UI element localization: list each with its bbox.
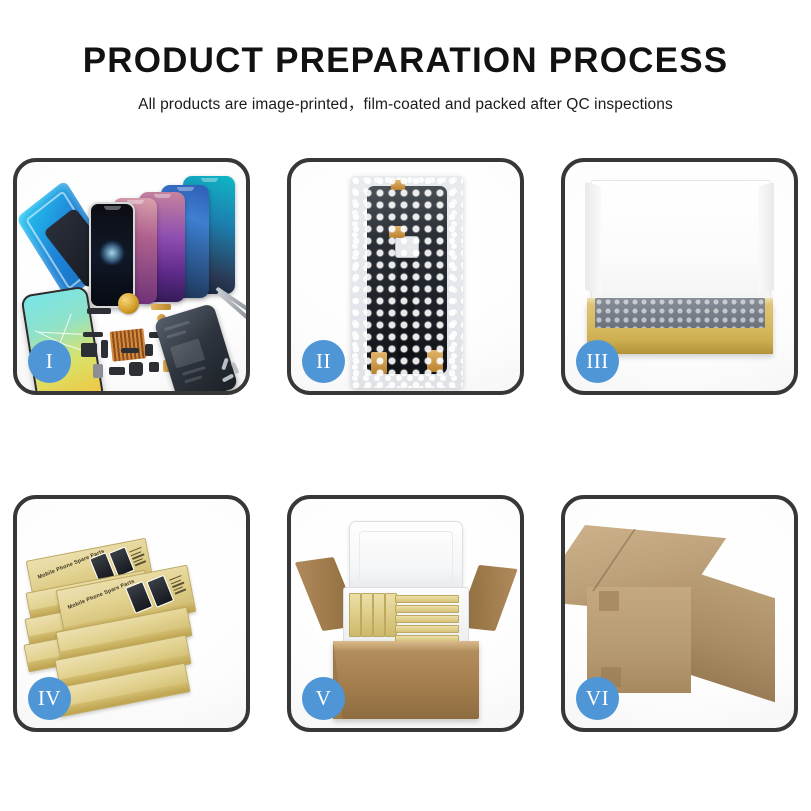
foam-lid-icon — [349, 521, 463, 593]
spare-part-icon — [129, 362, 143, 376]
process-step-5: V — [287, 495, 524, 732]
step-badge-4: IV — [28, 677, 71, 720]
camera-lens-icon — [118, 293, 139, 314]
connector-pad-icon — [395, 236, 419, 258]
tape-icon — [427, 350, 443, 372]
step-badge-2: II — [302, 340, 345, 383]
spare-part-icon — [87, 308, 111, 314]
process-step-2: II — [287, 158, 524, 395]
spare-part-icon — [109, 367, 125, 375]
header: PRODUCT PREPARATION PROCESS All products… — [0, 0, 811, 114]
kraft-box — [373, 593, 385, 637]
lid-flap-right-icon — [758, 182, 774, 294]
step-badge-5: V — [302, 677, 345, 720]
page-title: PRODUCT PREPARATION PROCESS — [0, 42, 811, 81]
chip-grid-icon — [110, 328, 147, 361]
product-preparation-infographic: PRODUCT PREPARATION PROCESS All products… — [0, 0, 811, 811]
page-subtitle: All products are image-printed，film-coat… — [0, 92, 811, 114]
process-step-6: VI — [561, 495, 798, 732]
spare-part-icon — [145, 344, 153, 356]
step-badge-1: I — [28, 340, 71, 383]
step-badge-3: III — [576, 340, 619, 383]
process-step-4: Mobile Phone Spare Parts Mobile Phone Sp… — [13, 495, 250, 732]
carton-tape-icon — [599, 591, 619, 611]
lid-flap-left-icon — [585, 182, 601, 294]
spare-part-icon — [121, 348, 139, 353]
phone-display-fan — [87, 176, 247, 306]
bubble-wrap-icon — [351, 176, 463, 388]
white-box-lid-icon — [591, 180, 771, 314]
tape-icon — [371, 352, 387, 374]
bubble-padding-icon — [595, 298, 765, 328]
spare-part-icon — [83, 332, 103, 337]
box-spec-lines — [169, 575, 189, 597]
shipping-carton-icon — [333, 641, 479, 719]
carton-side-face — [691, 571, 775, 702]
tape-icon — [389, 226, 405, 238]
tape-icon — [391, 180, 405, 190]
kraft-box — [349, 593, 361, 637]
spare-part-icon — [93, 364, 103, 378]
spare-part-icon — [149, 362, 159, 372]
spare-part-icon — [81, 343, 97, 357]
spare-part-icon — [101, 340, 108, 358]
process-step-grid: I II — [13, 158, 798, 732]
process-step-1: I — [13, 158, 250, 395]
spare-part-icon — [151, 304, 171, 310]
kraft-box-row — [395, 595, 459, 635]
screws-icon — [223, 358, 247, 384]
kraft-box — [361, 593, 373, 637]
step-badge-6: VI — [576, 677, 619, 720]
process-step-3: III — [561, 158, 798, 395]
